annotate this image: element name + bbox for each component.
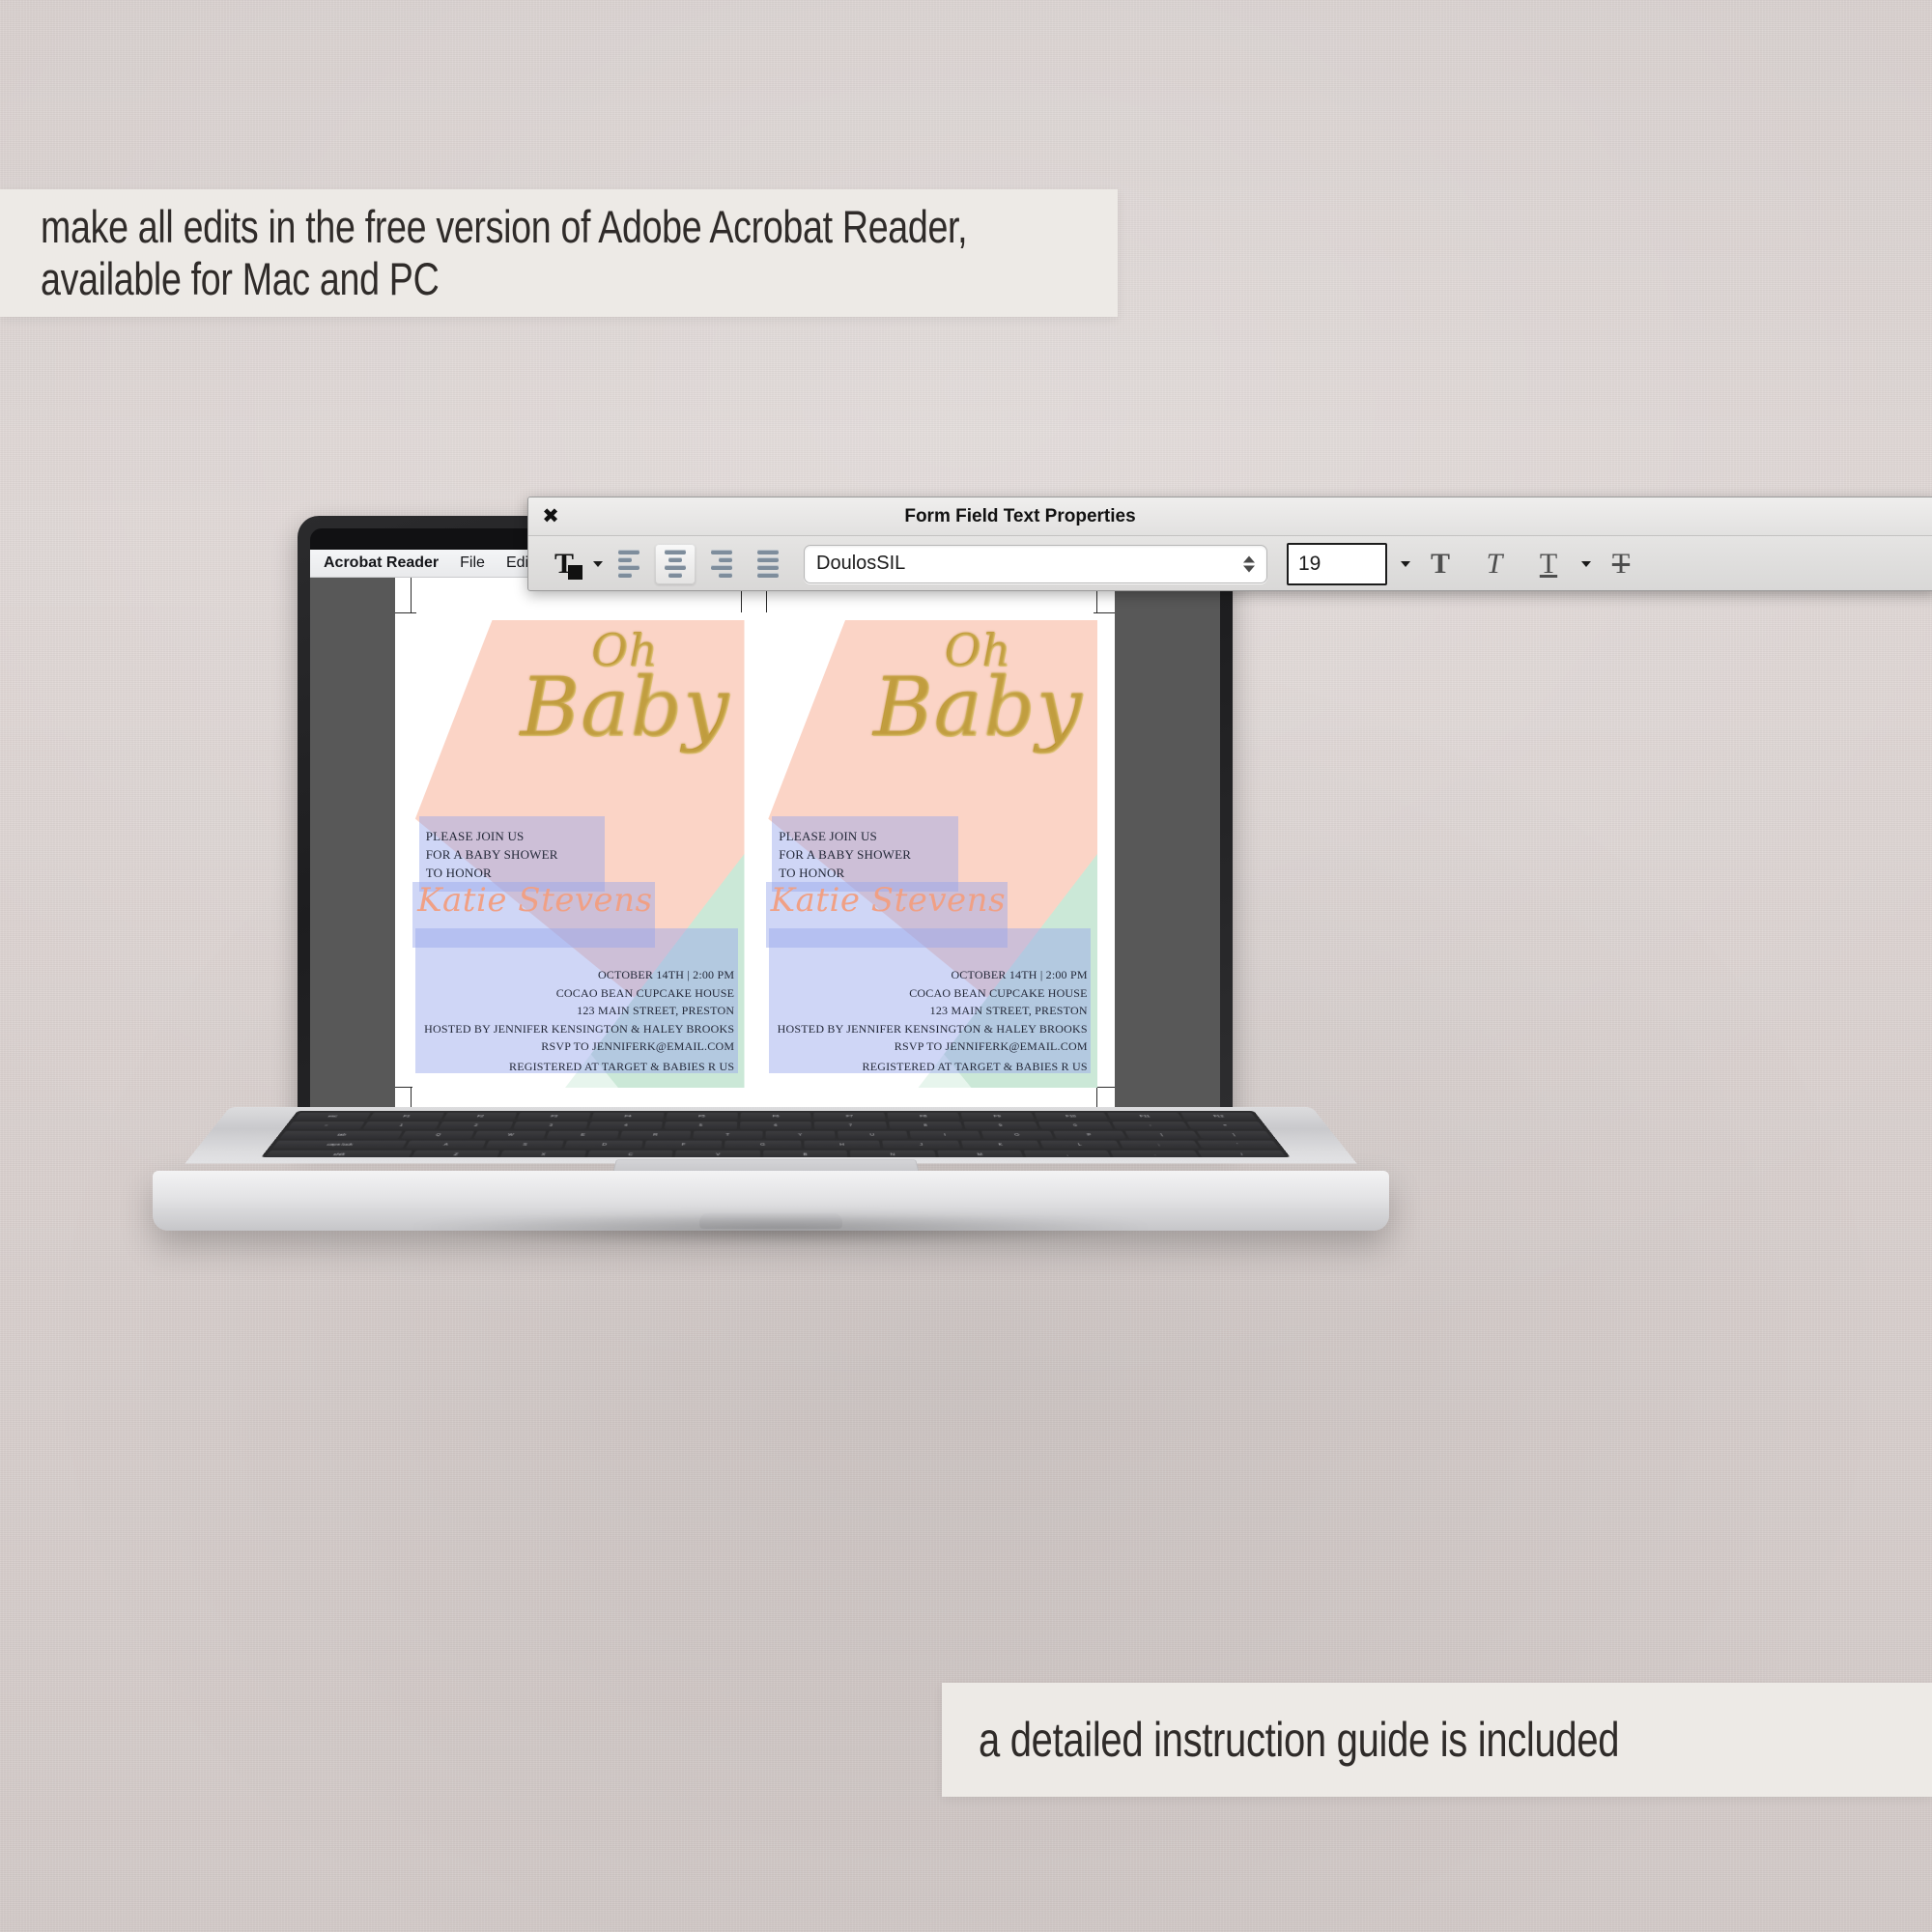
key[interactable]: 8	[889, 1122, 962, 1129]
dialog-title: Form Field Text Properties	[528, 506, 1512, 527]
key[interactable]: C	[587, 1151, 673, 1157]
laptop-screen-bezel: Acrobat Reader File Edit View Window Hel…	[310, 528, 1220, 1121]
italic-button[interactable]: T	[1470, 544, 1519, 584]
key[interactable]: O	[981, 1131, 1054, 1139]
card-join-text: PLEASE JOIN US FOR A BABY SHOWER TO HONO…	[426, 828, 558, 883]
font-size-chevron-down-icon[interactable]	[1401, 561, 1410, 567]
key[interactable]: G	[724, 1141, 801, 1149]
keyboard-row-home[interactable]: caps lock A S D F G H J K L ; '	[272, 1141, 1280, 1149]
key[interactable]: 4	[588, 1122, 662, 1129]
align-justify-button[interactable]	[748, 544, 788, 584]
top-caption-text-group: make all edits in the free version of Ad…	[41, 201, 1199, 304]
key[interactable]: 2	[438, 1122, 513, 1129]
font-size-value: 19	[1298, 553, 1321, 576]
key[interactable]: ]	[1197, 1131, 1272, 1139]
keyboard-row-bottom[interactable]: shift Z X C V B N M , . /	[264, 1151, 1287, 1157]
key[interactable]: ;	[1119, 1141, 1200, 1149]
key[interactable]: F6	[740, 1113, 811, 1121]
card-honoree-name: Katie Stevens	[771, 884, 1006, 917]
top-caption-line2: available for Mac and PC	[41, 253, 967, 305]
key[interactable]: F9	[960, 1113, 1034, 1121]
strikethrough-button[interactable]: T	[1597, 544, 1645, 584]
key[interactable]: ~	[287, 1122, 364, 1129]
key[interactable]: '	[1197, 1141, 1279, 1149]
card-registry: REGISTERED AT TARGET & BABIES R US	[509, 1058, 734, 1075]
pdf-page: Oh Baby PLEASE JOIN US FOR A BABY SHOWER…	[395, 578, 1115, 1121]
align-center-button[interactable]	[655, 544, 696, 584]
crop-mark-top-left	[411, 578, 412, 612]
key[interactable]: 3	[513, 1122, 587, 1129]
key[interactable]: N	[850, 1151, 936, 1157]
key[interactable]: D	[565, 1141, 643, 1149]
key[interactable]: F7	[813, 1113, 885, 1121]
close-icon[interactable]: ✖	[540, 505, 561, 526]
menu-item-file[interactable]: File	[460, 555, 485, 571]
bottom-caption-banner: a detailed instruction guide is included	[942, 1683, 1932, 1797]
key[interactable]: F2	[443, 1113, 518, 1121]
align-right-button[interactable]	[701, 544, 742, 584]
key[interactable]: 6	[740, 1122, 812, 1129]
key[interactable]: H	[804, 1141, 881, 1149]
dialog-toolbar[interactable]: T	[528, 536, 1932, 591]
card-hosted-by: HOSTED BY JENNIFER KENSINGTON & HALEY BR…	[424, 1020, 734, 1056]
key-caps-lock[interactable]: caps lock	[272, 1141, 408, 1149]
key[interactable]: F	[644, 1141, 722, 1149]
keyboard[interactable]: esc F1 F2 F3 F4 F5 F6 F7 F8 F9 F10 F11 F…	[261, 1111, 1291, 1157]
key[interactable]: L	[1039, 1141, 1120, 1149]
invitation-cards-row: Oh Baby PLEASE JOIN US FOR A BABY SHOWER…	[412, 620, 1097, 1088]
key[interactable]: -	[1112, 1122, 1188, 1129]
top-caption-banner: make all edits in the free version of Ad…	[0, 189, 1118, 317]
key-shift[interactable]: shift	[264, 1151, 412, 1157]
key[interactable]: F11	[1107, 1113, 1182, 1121]
key[interactable]: V	[675, 1151, 760, 1157]
font-family-value: DoulosSIL	[816, 553, 905, 575]
key[interactable]: S	[485, 1141, 564, 1149]
screenshot-stage: make all edits in the free version of Ad…	[0, 0, 1932, 1932]
key-tab[interactable]: tab	[280, 1131, 404, 1139]
dialog-titlebar[interactable]: ✖ Form Field Text Properties	[528, 497, 1932, 536]
key[interactable]: W	[474, 1131, 547, 1139]
key[interactable]: [	[1124, 1131, 1199, 1139]
crop-mark-top-right-h	[1094, 612, 1115, 613]
underline-chevron-down-icon[interactable]	[1581, 561, 1591, 567]
card-honoree-name: Katie Stevens	[417, 884, 652, 917]
laptop-shadow	[259, 1206, 1302, 1250]
font-family-select[interactable]: DoulosSIL	[804, 545, 1267, 583]
form-field-text-properties-dialog[interactable]: ✖ Form Field Text Properties T	[527, 497, 1932, 591]
keyboard-row-number[interactable]: ~ 1 2 3 4 5 6 7 8 9 0 - =	[287, 1122, 1264, 1129]
text-color-chevron-down-icon[interactable]	[593, 561, 603, 567]
align-center-icon	[665, 550, 686, 578]
key[interactable]: F10	[1034, 1113, 1108, 1121]
key[interactable]: .	[1110, 1151, 1199, 1157]
invitation-card-right[interactable]: Oh Baby PLEASE JOIN US FOR A BABY SHOWER…	[766, 620, 1098, 1088]
invitation-card-left[interactable]: Oh Baby PLEASE JOIN US FOR A BABY SHOWER…	[412, 620, 745, 1088]
key[interactable]: U	[838, 1131, 908, 1139]
text-color-icon: T	[554, 550, 574, 579]
key[interactable]: F12	[1180, 1113, 1257, 1121]
card-registry: REGISTERED AT TARGET & BABIES R US	[863, 1058, 1088, 1075]
key[interactable]: F1	[369, 1113, 444, 1121]
key[interactable]: K	[961, 1141, 1040, 1149]
key[interactable]: 5	[664, 1122, 736, 1129]
document-viewport[interactable]: Oh Baby PLEASE JOIN US FOR A BABY SHOWER…	[310, 578, 1220, 1121]
card-event-details: OCTOBER 14TH | 2:00 PM COCAO BEAN CUPCAK…	[909, 966, 1087, 1020]
key[interactable]: X	[499, 1151, 586, 1157]
laptop-lid: Acrobat Reader File Edit View Window Hel…	[298, 516, 1233, 1142]
crop-mark-top-left-h	[395, 612, 416, 613]
key[interactable]: T	[693, 1131, 762, 1139]
font-size-input[interactable]: 19	[1287, 543, 1387, 585]
bold-button[interactable]: T	[1416, 544, 1464, 584]
bottom-caption-text: a detailed instruction guide is included	[979, 1713, 1619, 1768]
key[interactable]: =	[1187, 1122, 1264, 1129]
key[interactable]: R	[619, 1131, 690, 1139]
key[interactable]: 9	[963, 1122, 1037, 1129]
align-left-icon	[618, 550, 639, 578]
key[interactable]: esc	[295, 1113, 371, 1121]
align-justify-icon	[757, 550, 779, 578]
screen-content: Acrobat Reader File Edit View Window Hel…	[310, 550, 1220, 1121]
key[interactable]: F3	[517, 1113, 590, 1121]
key[interactable]: 7	[814, 1122, 887, 1129]
key[interactable]: Z	[412, 1151, 499, 1157]
key[interactable]: I	[909, 1131, 980, 1139]
card-event-details: OCTOBER 14TH | 2:00 PM COCAO BEAN CUPCAK…	[556, 966, 734, 1020]
card-join-text: PLEASE JOIN US FOR A BABY SHOWER TO HONO…	[779, 828, 911, 883]
keyboard-row-function[interactable]: esc F1 F2 F3 F4 F5 F6 F7 F8 F9 F10 F11 F…	[295, 1113, 1258, 1121]
key[interactable]: P	[1053, 1131, 1126, 1139]
key[interactable]: M	[937, 1151, 1024, 1157]
align-right-icon	[711, 550, 732, 578]
key[interactable]: E	[547, 1131, 618, 1139]
key[interactable]: 1	[362, 1122, 439, 1129]
key[interactable]: /	[1197, 1151, 1287, 1157]
key[interactable]: F5	[666, 1113, 737, 1121]
text-color-button[interactable]: T	[544, 544, 584, 584]
key[interactable]: Q	[401, 1131, 474, 1139]
key[interactable]: A	[406, 1141, 486, 1149]
key[interactable]: F4	[591, 1113, 664, 1121]
underline-button[interactable]: T	[1524, 544, 1573, 584]
keyboard-row-qwerty[interactable]: tab Q W E R T Y U I O P [ ]	[280, 1131, 1272, 1139]
align-left-button[interactable]	[609, 544, 649, 584]
chevron-up-icon	[1243, 555, 1255, 562]
font-family-stepper-icon[interactable]	[1243, 555, 1255, 572]
top-caption-line1: make all edits in the free version of Ad…	[41, 201, 967, 253]
key[interactable]: J	[882, 1141, 960, 1149]
menu-item-acrobat-reader[interactable]: Acrobat Reader	[324, 555, 439, 571]
key[interactable]: F8	[887, 1113, 959, 1121]
key[interactable]: B	[763, 1151, 848, 1157]
key[interactable]: 0	[1037, 1122, 1113, 1129]
card-hosted-by: HOSTED BY JENNIFER KENSINGTON & HALEY BR…	[778, 1020, 1088, 1056]
key[interactable]: ,	[1024, 1151, 1112, 1157]
key[interactable]: Y	[765, 1131, 835, 1139]
chevron-down-icon	[1243, 565, 1255, 572]
laptop-mockup: Acrobat Reader File Edit View Window Hel…	[143, 516, 1399, 1221]
